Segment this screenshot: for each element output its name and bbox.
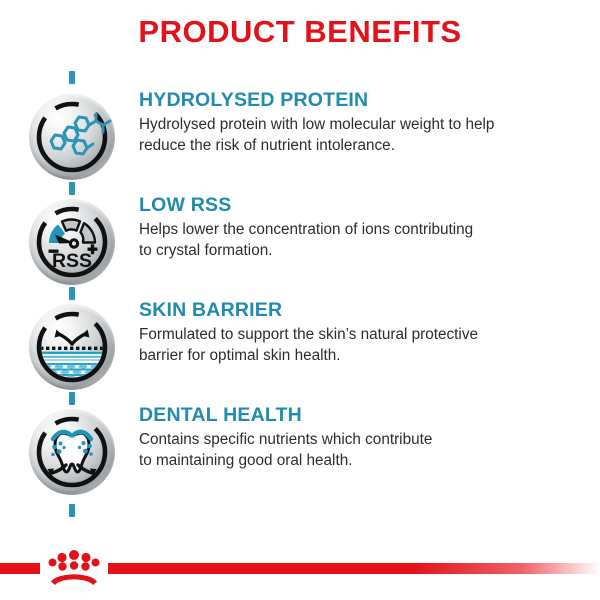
product-benefits-panel: PRODUCT BENEFITS	[0, 0, 600, 600]
benefit-text-container: LOW RSS Helps lower the concentration of…	[139, 195, 587, 261]
benefit-body-line: Hydrolysed protein with low molecular we…	[139, 115, 587, 135]
benefit-body-line: to maintaining good oral health.	[139, 451, 587, 471]
benefit-text-container: DENTAL HEALTH Contains specific nutrient…	[139, 405, 587, 471]
benefit-item-skin-barrier: SKIN BARRIER Formulated to support the s…	[0, 300, 600, 405]
tooth-icon	[29, 409, 115, 495]
benefit-body-line: reduce the risk of nutrient intolerance.	[139, 136, 587, 156]
rss-gauge-icon: RSS	[29, 199, 115, 285]
benefit-body: Formulated to support the skin’s natural…	[139, 325, 587, 366]
benefit-body: Hydrolysed protein with low molecular we…	[139, 115, 587, 156]
footer	[0, 538, 600, 600]
connector-dash	[69, 287, 75, 300]
benefit-heading: SKIN BARRIER	[139, 300, 587, 321]
connector-dash	[69, 71, 75, 84]
footer-bar-left	[0, 563, 40, 574]
connector-dash	[69, 504, 75, 517]
benefit-heading: DENTAL HEALTH	[139, 405, 587, 426]
benefit-text-container: SKIN BARRIER Formulated to support the s…	[139, 300, 587, 366]
royal-canin-crown-logo	[42, 546, 106, 590]
connector-dash	[69, 392, 75, 405]
benefit-body-line: Helps lower the concentration of ions co…	[139, 220, 587, 240]
benefit-heading: HYDROLYSED PROTEIN	[139, 90, 587, 111]
connector-dash	[69, 182, 75, 195]
skin-barrier-icon	[29, 304, 115, 390]
benefit-body: Contains specific nutrients which contri…	[139, 430, 587, 471]
benefits-list: HYDROLYSED PROTEIN Hydrolysed protein wi…	[0, 90, 600, 530]
benefit-heading: LOW RSS	[139, 195, 587, 216]
benefit-icon-container	[29, 304, 115, 390]
benefit-text-container: HYDROLYSED PROTEIN Hydrolysed protein wi…	[139, 90, 587, 156]
footer-bar-right	[108, 563, 600, 574]
benefit-item-hydrolysed-protein: HYDROLYSED PROTEIN Hydrolysed protein wi…	[0, 90, 600, 195]
benefit-item-dental-health: DENTAL HEALTH Contains specific nutrient…	[0, 405, 600, 510]
benefit-body-line: barrier for optimal skin health.	[139, 346, 587, 366]
benefit-body-line: Contains specific nutrients which contri…	[139, 430, 587, 450]
benefit-icon-container: RSS	[29, 199, 115, 285]
benefit-body: Helps lower the concentration of ions co…	[139, 220, 587, 261]
benefit-item-low-rss: RSS LOW RSS Helps lower the concentratio…	[0, 195, 600, 300]
molecule-icon	[29, 94, 115, 180]
gauge-label: RSS	[52, 250, 92, 272]
page-title: PRODUCT BENEFITS	[0, 14, 600, 50]
benefit-icon-container	[29, 409, 115, 495]
benefit-body-line: to crystal formation.	[139, 241, 587, 261]
benefit-icon-container	[29, 94, 115, 180]
benefit-body-line: Formulated to support the skin’s natural…	[139, 325, 587, 345]
